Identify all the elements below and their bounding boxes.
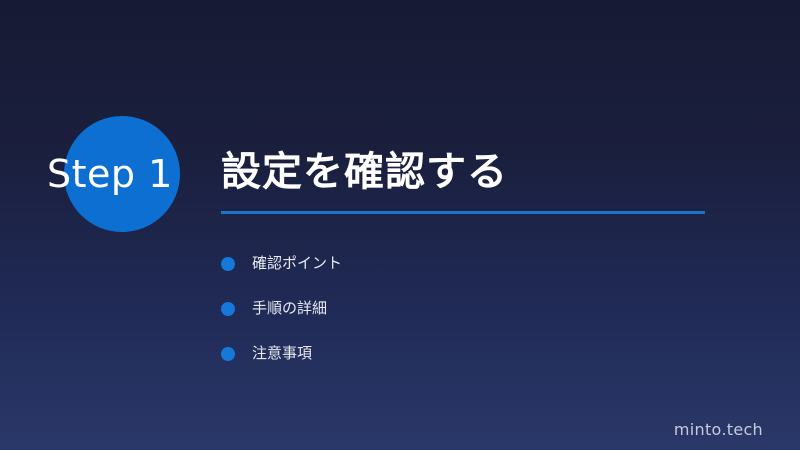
list-item: 手順の詳細 — [221, 286, 342, 331]
list-item-label: 注意事項 — [252, 346, 312, 361]
presentation-slide: Step 1 設定を確認する 確認ポイント 手順の詳細 注意事項 minto.t… — [0, 0, 800, 450]
bullet-dot-icon — [221, 257, 235, 271]
list-item-label: 手順の詳細 — [252, 301, 327, 316]
bullet-list: 確認ポイント 手順の詳細 注意事項 — [221, 241, 342, 376]
bullet-dot-icon — [221, 347, 235, 361]
list-item: 確認ポイント — [221, 241, 342, 286]
step-badge-label: Step 1 — [47, 152, 173, 196]
list-item-label: 確認ポイント — [252, 256, 342, 271]
footer-branding: minto.tech — [674, 420, 763, 440]
list-item: 注意事項 — [221, 331, 342, 376]
title-divider — [221, 211, 705, 214]
bullet-dot-icon — [221, 302, 235, 316]
slide-title: 設定を確認する — [221, 147, 508, 197]
